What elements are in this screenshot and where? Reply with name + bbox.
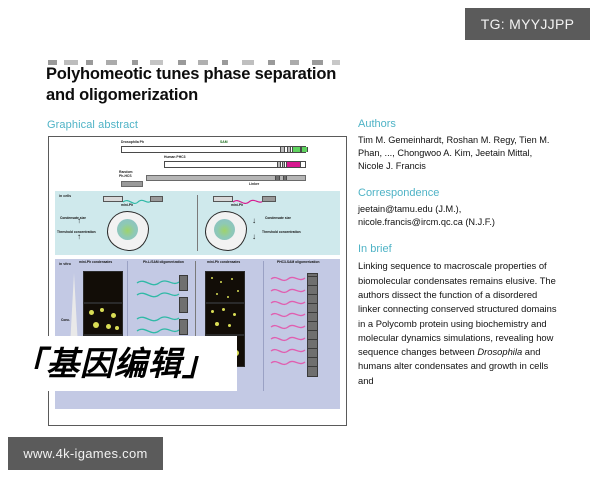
micrograph-1a — [83, 271, 123, 303]
stack-magenta-tall — [307, 273, 318, 377]
metric-left-1: Condensate size — [60, 217, 86, 221]
panel-in-cells: in cells mini-Ph ↑ Condensate size ↑ Thr… — [55, 191, 340, 255]
in-brief-heading: In brief — [358, 243, 558, 255]
arrow-down-right-1: ↓ — [252, 217, 256, 225]
domain-label-linker: Linker — [249, 182, 259, 186]
col-label-3: mini-Ph condensates — [207, 261, 240, 265]
domain-bar-drosophila — [121, 146, 306, 153]
authors-heading: Authors — [358, 118, 558, 130]
domain-label-drosophila-ph: Drosophila Ph — [121, 140, 144, 144]
correspondence-heading: Correspondence — [358, 187, 558, 199]
domain-bar-human — [164, 161, 306, 168]
document-page: Polyhomeotic tunes phase separation and … — [0, 0, 600, 480]
stack-green-1 — [179, 275, 188, 291]
in-brief-text: Linking sequence to macroscale propertie… — [358, 259, 558, 388]
graphical-abstract-heading: Graphical abstract — [47, 119, 138, 131]
domain-label-random-linker: Random Ph-HCS — [119, 170, 133, 178]
construct-chip-left-b — [150, 196, 163, 202]
panel-label-in-cells: in cells — [59, 194, 71, 198]
construct-chip-right-b — [262, 196, 276, 202]
correspondence-block: Correspondence jeetain@tamu.edu (J.M.), … — [358, 187, 558, 229]
micrograph-3b — [205, 303, 245, 335]
chinese-text-overlay: 「基因编辑」 — [12, 336, 237, 391]
top-watermark: TG: MYYJJPP — [465, 8, 590, 40]
nucleus-right — [214, 219, 235, 240]
figure-fade-bottom — [49, 415, 346, 426]
construct-label-right: mini-Ph — [231, 204, 243, 208]
domain-bar-random — [146, 175, 306, 181]
col-label-4: PHC3-SAM oligomerization — [277, 261, 320, 265]
authors-block: Authors Tim M. Gemeinhardt, Roshan M. Re… — [358, 118, 558, 173]
col-label-1: mini-Ph condensates — [79, 261, 112, 265]
metric-right-2: Threshold concentration — [262, 231, 301, 235]
micrograph-1b — [83, 303, 123, 335]
domain-label-sam-green: SAM — [220, 140, 228, 144]
metric-right-1: Condensate size — [265, 217, 291, 221]
stack-green-2 — [179, 297, 188, 313]
col-label-2: Ph-L/SAM oligomerization — [143, 261, 184, 265]
panel-label-in-vitro: in vitro — [59, 262, 71, 266]
page-title: Polyhomeotic tunes phase separation and … — [46, 64, 366, 106]
domain-label-human-phc3: Human PHC3 — [164, 155, 185, 159]
in-brief-block: In brief Linking sequence to macroscale … — [358, 243, 558, 388]
bottom-watermark: www.4k-igames.com — [8, 437, 163, 470]
stack-green-3 — [179, 319, 188, 335]
construct-chip-left-a — [103, 196, 123, 202]
in-brief-text-part1: Linking sequence to macroscale propertie… — [358, 260, 557, 357]
construct-chip-right-a — [213, 196, 233, 202]
domain-bar-random-small — [121, 181, 143, 187]
metric-left-2: Threshold concentration — [57, 231, 96, 235]
conc-label: Conc. — [61, 319, 70, 323]
construct-label-left: mini-Ph — [121, 204, 133, 208]
article-side-column: Authors Tim M. Gemeinhardt, Roshan M. Re… — [358, 118, 558, 388]
micrograph-3a — [205, 271, 245, 303]
arrow-down-right-2: ↓ — [252, 233, 256, 241]
domain-diagram: Drosophila Ph SAM Human PHC3 Random Ph-H… — [49, 137, 346, 189]
oligomer-schematic-magenta — [269, 271, 309, 381]
nucleus-left — [117, 219, 138, 240]
authors-list: Tim M. Gemeinhardt, Roshan M. Regy, Tien… — [358, 134, 558, 173]
in-brief-italic-term: Drosophila — [477, 346, 522, 357]
correspondence-emails: jeetain@tamu.edu (J.M.), nicole.francis@… — [358, 203, 558, 229]
